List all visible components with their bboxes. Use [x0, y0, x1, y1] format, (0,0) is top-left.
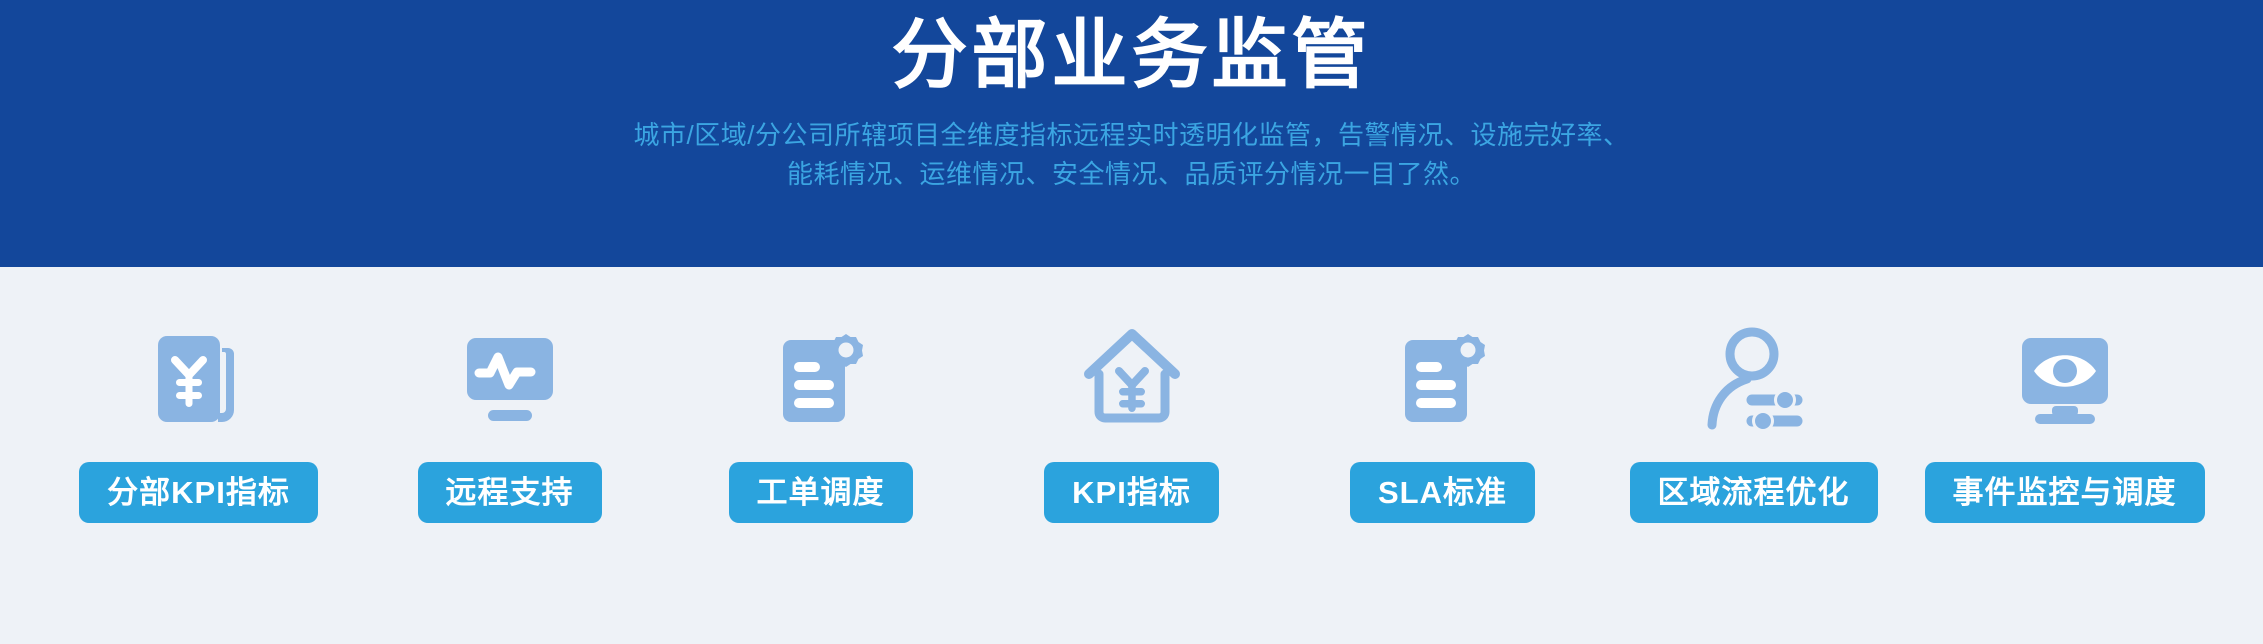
feature-card[interactable]: KPI指标	[976, 267, 1287, 523]
feature-card[interactable]: 分部KPI指标	[43, 267, 354, 523]
header-banner: 分部业务监管 城市/区域/分公司所辖项目全维度指标远程实时透明化监管，告警情况、…	[0, 0, 2263, 267]
page-root: 分部业务监管 城市/区域/分公司所辖项目全维度指标远程实时透明化监管，告警情况、…	[0, 0, 2263, 644]
monitor-pulse-icon	[455, 324, 565, 434]
feature-section: 分部KPI指标 远程支持	[0, 267, 2263, 644]
feature-card[interactable]: 工单调度	[665, 267, 976, 523]
feature-button-shijian-jiankong-diaodu[interactable]: 事件监控与调度	[1925, 462, 2205, 523]
person-sliders-icon	[1699, 324, 1809, 434]
feature-card-list: 分部KPI指标 远程支持	[0, 267, 2263, 644]
document-gear-icon	[766, 324, 876, 434]
feature-button-fenbu-kpi[interactable]: 分部KPI指标	[79, 462, 318, 523]
document-gear-icon	[1388, 324, 1498, 434]
feature-card[interactable]: 区域流程优化	[1598, 267, 1909, 523]
page-subtitle-line-2: 能耗情况、运维情况、安全情况、品质评分情况一目了然。	[422, 155, 1842, 194]
page-title: 分部业务监管	[0, 0, 2263, 94]
feature-button-quyu-liucheng-youhua[interactable]: 区域流程优化	[1630, 462, 1878, 523]
feature-button-kpi-zhibiao[interactable]: KPI指标	[1044, 462, 1219, 523]
feature-button-gongdan-diaodu[interactable]: 工单调度	[729, 462, 913, 523]
feature-button-sla-biaozhun[interactable]: SLA标准	[1350, 462, 1535, 523]
feature-card[interactable]: 远程支持	[354, 267, 665, 523]
page-subtitle-line-1: 城市/区域/分公司所辖项目全维度指标远程实时透明化监管，告警情况、设施完好率、	[422, 116, 1842, 155]
monitor-eye-icon	[2010, 324, 2120, 434]
ledger-yen-icon	[144, 324, 254, 434]
page-subtitle: 城市/区域/分公司所辖项目全维度指标远程实时透明化监管，告警情况、设施完好率、 …	[422, 94, 1842, 194]
feature-card[interactable]: SLA标准	[1287, 267, 1598, 523]
feature-card[interactable]: 事件监控与调度	[1909, 267, 2220, 523]
feature-button-yuancheng-zhichi[interactable]: 远程支持	[418, 462, 602, 523]
house-yen-icon	[1077, 324, 1187, 434]
